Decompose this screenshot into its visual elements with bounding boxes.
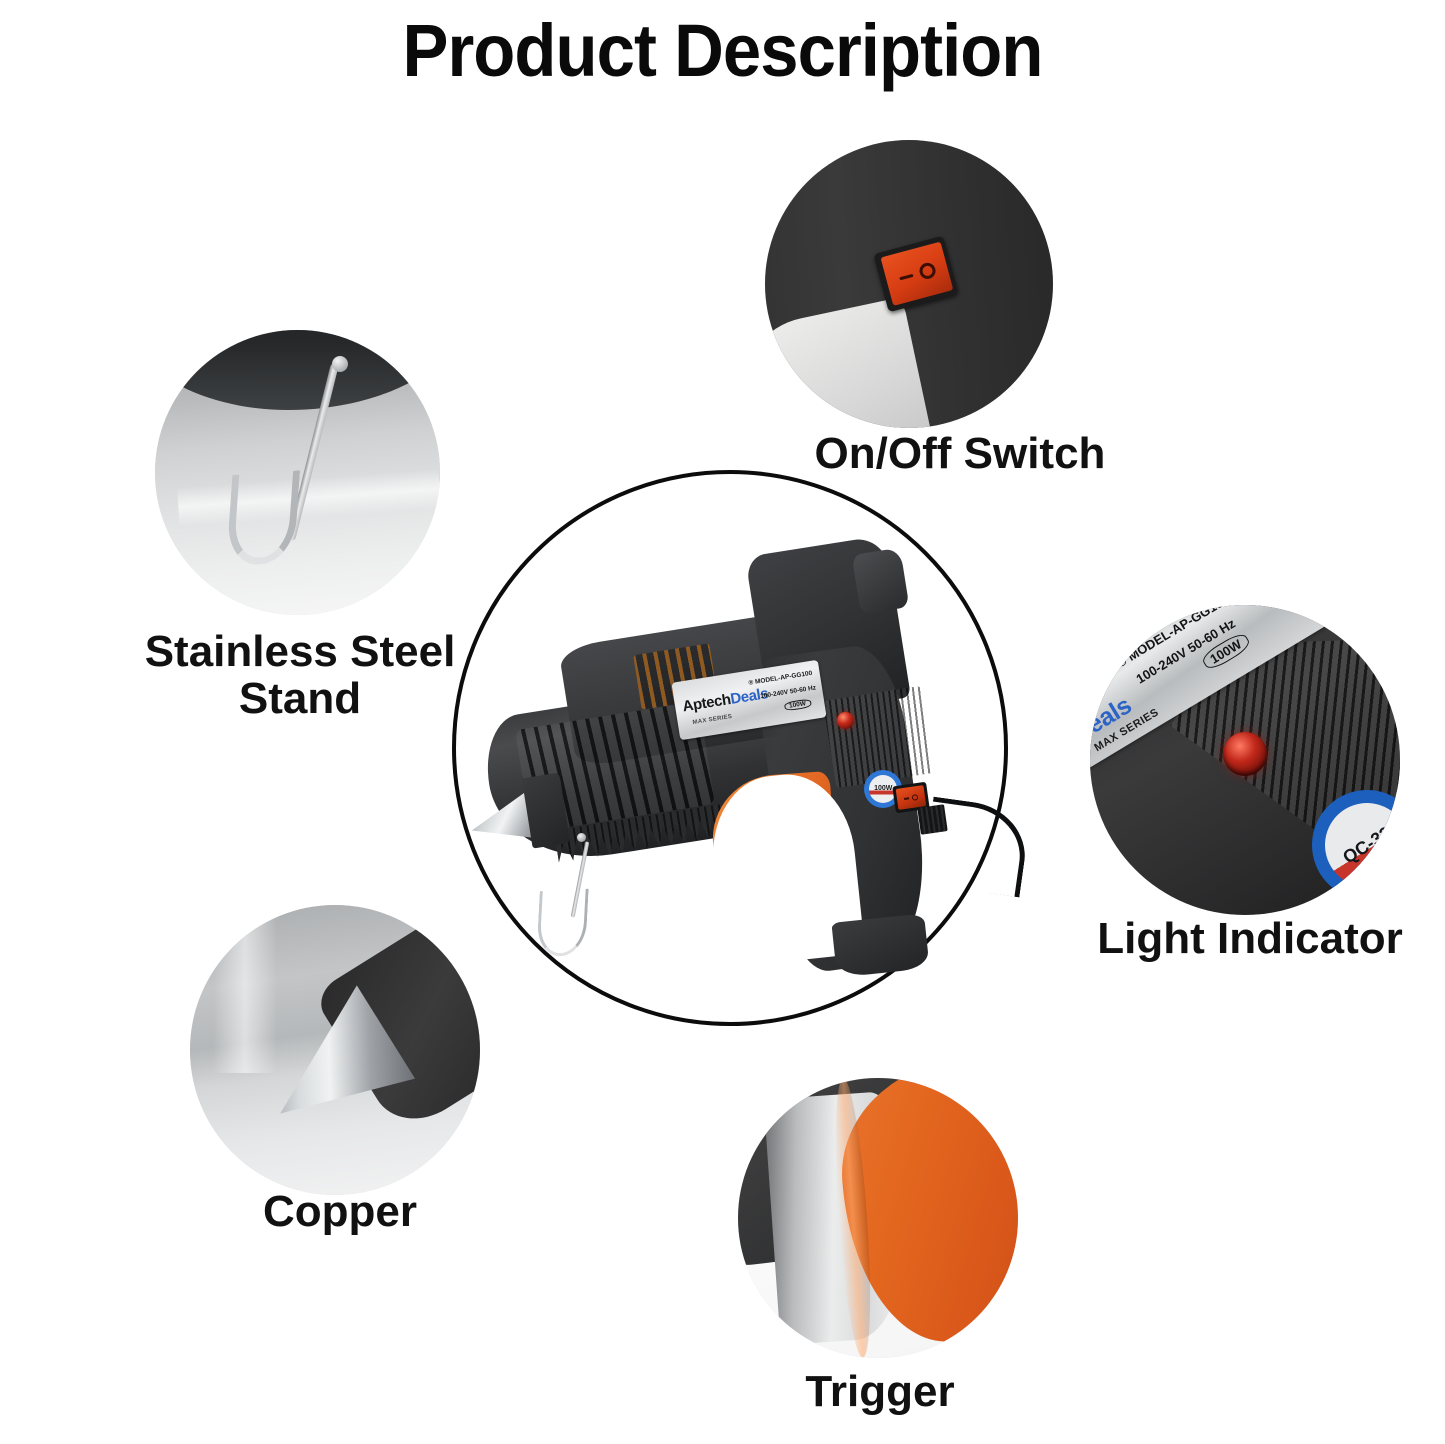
copper-surface-glint — [213, 905, 277, 1073]
feature-circle-trigger — [738, 1078, 1018, 1358]
gun-label-series: MAX SERIES — [692, 714, 732, 726]
gun-rear-cap — [852, 547, 910, 614]
feature-circle-onoff-switch — [765, 140, 1053, 428]
feature-circle-copper — [190, 905, 480, 1195]
gun-stand-foot — [536, 889, 589, 958]
callout-label-onoff-switch: On/Off Switch — [740, 430, 1180, 477]
gun-switch-off-mark — [912, 793, 919, 800]
gun-label-model: ® MODEL-AP-GG100 — [748, 670, 813, 687]
center-product-circle: AptechDeals MAX SERIES ® MODEL-AP-GG100 … — [452, 470, 1008, 1026]
gun-switch-on-mark — [904, 797, 909, 800]
gun-label-voltage: 100-240V 50-60 Hz — [760, 685, 817, 701]
callout-label-trigger: Trigger — [700, 1368, 1060, 1415]
callout-label-copper: Copper — [145, 1188, 535, 1235]
feature-circle-light-indicator: Deals MAX SERIES ® MODEL-AP-GG100 100-24… — [1090, 605, 1400, 915]
product-description-infographic: Product Description On/Off Switch Stain — [0, 0, 1445, 1444]
switch-on-mark — [899, 273, 913, 280]
gun-label-brand: AptechDeals — [682, 686, 770, 716]
gun-power-cord — [922, 796, 1032, 897]
gun-label-wattage: 100W — [784, 698, 812, 711]
gun-handle-base — [832, 913, 930, 977]
wire-stand-pivot — [332, 356, 348, 372]
switch-off-mark — [918, 261, 938, 281]
feature-circle-stainless-steel-stand — [155, 330, 440, 615]
glue-gun-illustration: AptechDeals MAX SERIES ® MODEL-AP-GG100 … — [456, 474, 1004, 1022]
callout-label-light-indicator: Light Indicator — [1050, 915, 1445, 962]
page-title: Product Description — [51, 8, 1395, 93]
